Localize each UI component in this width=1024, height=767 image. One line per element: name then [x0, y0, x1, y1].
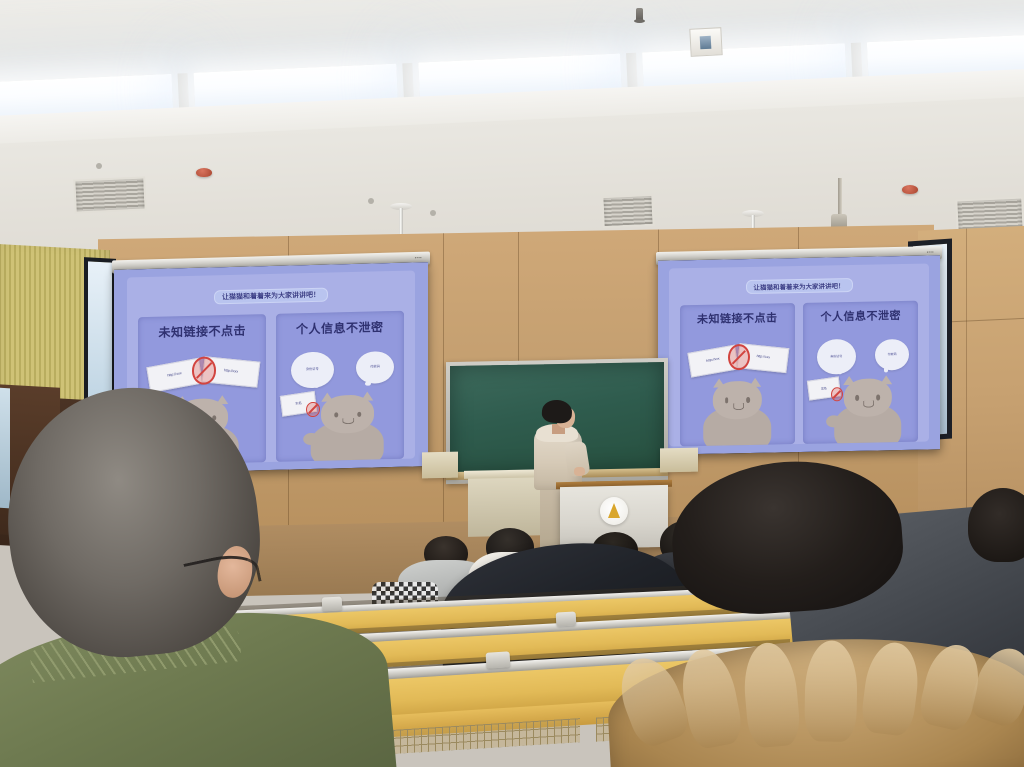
- bubble-text: 身份证号: [306, 368, 319, 372]
- smoke-detector-icon: [902, 185, 918, 194]
- speaker-hand: [574, 467, 585, 476]
- thought-bubble-id-info: 身份证号: [817, 339, 856, 375]
- projection-screen-right: 让猫猫和着着来为大家讲讲吧！ 未知链接不点击 http://xxx http:/…: [658, 255, 940, 454]
- valance-brand-label: ▪▪▪▪: [415, 255, 422, 260]
- rail-clip: [556, 611, 577, 626]
- card-text: 实名: [295, 402, 302, 406]
- foreground-person-head-far-right: [968, 488, 1024, 562]
- lecture-hall-photo: ▪▪▪▪ 让猫猫和着着来为大家讲讲吧！ 未知链接不点击 http://xxx h…: [0, 0, 1024, 767]
- cat-ear-left: [843, 375, 855, 384]
- card-text: 实名: [821, 387, 827, 391]
- ceiling-bolt-icon: [96, 163, 102, 169]
- ceiling-bolt-icon: [368, 198, 374, 204]
- bubble-dot: [884, 368, 889, 372]
- slide-right: 让猫猫和着着来为大家讲讲吧！ 未知链接不点击 http://xxx http:/…: [658, 255, 940, 454]
- cat-ear-left: [321, 392, 333, 401]
- bubble-dot: [838, 370, 843, 374]
- bubble-dot: [314, 384, 319, 389]
- rail-clip: [486, 651, 511, 668]
- cat-ear-right: [362, 391, 374, 400]
- cat-illustration: [308, 391, 388, 462]
- side-board-left: [422, 452, 458, 479]
- slide-panel-privacy-left: 个人信息不泄密 身份证号 付款码 实名: [276, 311, 404, 462]
- fur-strand: [804, 641, 857, 743]
- smoke-detector-icon: [196, 168, 212, 177]
- panel-heading: 个人信息不泄密: [821, 307, 902, 325]
- ceiling-speaker-icon: [689, 27, 722, 57]
- cable-drop: [838, 178, 842, 218]
- bubble-dot: [365, 381, 370, 386]
- valance-brand-label: ▪▪▪▪: [927, 249, 934, 254]
- wall-seam: [443, 233, 444, 533]
- panel-heading: 个人信息不泄密: [296, 318, 384, 337]
- bubble-text: 付款码: [370, 366, 380, 370]
- light-divider-1: [178, 73, 190, 109]
- light-divider-4: [850, 43, 862, 79]
- url-text: http://xxx: [223, 370, 238, 375]
- side-board-right: [660, 448, 698, 473]
- panel-heading: 未知链接不点击: [158, 321, 246, 340]
- fur-strand: [966, 641, 1024, 729]
- cat-ear-right: [880, 375, 892, 384]
- sprinkler-head-icon: [636, 8, 643, 22]
- url-text: http://xxx: [706, 358, 720, 364]
- slide-canvas-right: 让猫猫和着着来为大家讲讲吧！ 未知链接不点击 http://xxx http:/…: [669, 263, 928, 446]
- thought-bubble-payment-code: 付款码: [875, 339, 909, 370]
- cat-ear-right: [750, 377, 762, 386]
- air-vent-center: [601, 194, 654, 228]
- slide-title-right: 让猫猫和着着来为大家讲讲吧！: [746, 278, 853, 294]
- url-text: http://xxx: [168, 372, 183, 378]
- cat-ear-left: [713, 378, 725, 387]
- slide-panel-unknown-links-right: 未知链接不点击 http://xxx http://xxx: [680, 303, 795, 446]
- thought-bubble-payment-code: 付款码: [356, 351, 393, 384]
- cat-illustration: [700, 377, 774, 447]
- fur-strand: [860, 639, 922, 737]
- cat-paw: [826, 415, 841, 427]
- rail-clip: [322, 597, 343, 612]
- light-divider-3: [626, 53, 638, 89]
- panel-heading: 未知链接不点击: [697, 309, 778, 327]
- bubble-text: 付款码: [888, 353, 897, 357]
- slide-panel-privacy-right: 个人信息不泄密 身份证号 付款码 实名: [803, 301, 918, 444]
- ceiling-bolt-icon: [430, 210, 436, 216]
- thought-bubble-id-info: 身份证号: [291, 351, 333, 389]
- bubble-text: 身份证号: [830, 355, 842, 359]
- cat-ear-right: [216, 395, 228, 404]
- slide-title-left: 让猫猫和着着来为大家讲讲吧！: [214, 287, 328, 304]
- podium-crest-icon: [600, 497, 628, 525]
- air-vent-left: [73, 176, 146, 213]
- url-text: http://xxx: [756, 356, 770, 361]
- door-glass-strip: [0, 388, 10, 509]
- slide-panels-right: 未知链接不点击 http://xxx http://xxx: [680, 301, 919, 447]
- light-divider-2: [402, 63, 414, 99]
- cat-illustration: [831, 374, 905, 444]
- fur-strand: [740, 641, 800, 749]
